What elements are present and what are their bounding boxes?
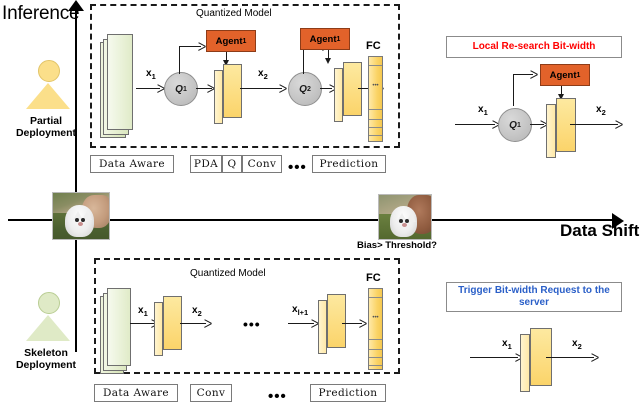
person-body (26, 83, 70, 109)
local-research-bitwidth-callout: Local Re-search Bit-width (446, 36, 622, 58)
right-agent-sub: 1 (577, 72, 581, 79)
x1-sub: 1 (144, 309, 148, 318)
skeleton-deployment-caption-line2: Deployment (0, 359, 92, 371)
top-input-tensor-slab (100, 34, 140, 138)
line-q1-to-agent1 (179, 46, 180, 74)
data-shift-axis-label: Data Shift (560, 222, 639, 240)
arrow-conv1-to-q2 (240, 88, 282, 89)
rb-x1-sub: 1 (508, 342, 512, 351)
trigger-bitwidth-request-callout: Trigger Bit-width Request to the server (446, 282, 622, 312)
right-x1-sub: 1 (484, 108, 488, 117)
bottom-stage-chip-conv[interactable]: Conv (190, 384, 232, 402)
bottom-stage-chip-data-aware[interactable]: Data Aware (94, 384, 178, 402)
top-stage-chip-data-aware[interactable]: Data Aware (90, 155, 174, 173)
partial-deployment-caption-line2: Deployment (0, 127, 92, 139)
person-head (38, 292, 60, 314)
top-stage-chip-conv[interactable]: Conv (242, 155, 282, 173)
agent1-base: Agent (216, 36, 243, 47)
q2-sub: 2 (307, 86, 311, 93)
arrowhead-conv-to-ellipsis (204, 319, 212, 327)
bottom-fc-label: FC (366, 272, 381, 284)
bottom-activation-label-xl1: xl+1 (292, 304, 308, 317)
top-stage-chip-pda[interactable]: PDA (190, 155, 222, 173)
inference-axis-line-lower (75, 232, 77, 352)
bottom-chip-ellipsis: ••• (268, 389, 287, 404)
bottom-quantized-model-label: Quantized Model (190, 268, 266, 279)
line-right-q1-to-agent (513, 74, 514, 106)
top-stage-chip-prediction[interactable]: Prediction (312, 155, 386, 173)
agent2-sub: 1 (337, 36, 341, 43)
arrowhead-to-agent1 (198, 42, 206, 50)
partial-deployment-person-icon (26, 60, 70, 110)
arrowhead-conv-last-to-fc (359, 319, 367, 327)
right-input-label-x1: x1 (478, 104, 488, 117)
right-conv-layer (546, 96, 580, 158)
bottom-input-tensor-slab (100, 288, 140, 370)
line-q2-to-agent2 (303, 46, 304, 74)
agent-box-1[interactable]: Agent1 (206, 30, 256, 52)
fc-ellipsis-dots: ••• (372, 83, 378, 89)
inference-axis-label: Inference (2, 4, 79, 24)
right-agent-box[interactable]: Agent1 (540, 64, 590, 86)
agent1-sub: 1 (243, 38, 247, 45)
fc-ellipsis-dots: ••• (372, 315, 378, 321)
arrowhead-right-output (615, 120, 623, 128)
cat-nose (402, 223, 407, 227)
skeleton-deployment-caption-line1: Skeleton (0, 347, 92, 359)
cat-nose (78, 222, 83, 226)
arrowhead-right-bottom-output (591, 353, 599, 361)
photo-cat (390, 206, 417, 237)
arrow-right-output (570, 124, 618, 125)
right-agent-base: Agent (550, 70, 577, 81)
top-chip-ellipsis: ••• (288, 160, 307, 175)
partial-deployment-caption-line1: Partial (0, 115, 92, 127)
top-conv-layer-1 (214, 62, 246, 124)
photo-cat (65, 205, 94, 237)
x2-sub: 2 (198, 309, 202, 318)
inference-axis-line (75, 8, 77, 206)
arrowhead-agent2-to-conv2 (325, 58, 331, 64)
right-x2-sub: 2 (602, 108, 606, 117)
right-q1-base: Q (509, 120, 517, 131)
bottom-stage-chip-prediction[interactable]: Prediction (310, 384, 386, 402)
bias-threshold-caption: Bias> Threshold? (357, 240, 437, 251)
top-quantized-model-label: Quantized Model (196, 8, 272, 19)
arrow-right-input (455, 124, 495, 125)
bottom-activation-label-x1: x1 (138, 305, 148, 318)
skeleton-deployment-person-icon (26, 292, 70, 342)
quantizer-q1: Q1 (164, 72, 198, 106)
agent-box-2[interactable]: Agent1 (300, 28, 350, 50)
person-head (38, 60, 60, 82)
top-stage-chip-q[interactable]: Q (222, 155, 242, 173)
arrowhead-right-to-agent (530, 70, 538, 78)
partial-deployment-caption: Partial Deployment (0, 115, 92, 140)
top-activation-label-x1: x1 (146, 68, 156, 81)
q2-base: Q (299, 84, 307, 95)
right-bottom-conv-layer (520, 326, 556, 392)
bottom-inner-ellipsis: ••• (243, 317, 261, 331)
top-fc-layer: ••• (368, 56, 383, 142)
top-activation-label-x2: x2 (258, 68, 268, 81)
top-fc-label: FC (366, 40, 381, 52)
xl1-sub: l+1 (298, 308, 309, 317)
right-bottom-input-label-x1: x1 (502, 338, 512, 351)
right-output-label-x2: x2 (596, 104, 606, 117)
top-conv-layer-2 (334, 60, 366, 122)
right-q1-sub: 1 (517, 122, 521, 129)
right-quantizer-q1: Q1 (498, 108, 532, 142)
person-body (26, 315, 70, 341)
right-bottom-output-label-x2: x2 (572, 338, 582, 351)
rb-x2-sub: 2 (578, 342, 582, 351)
q1-base: Q (175, 84, 183, 95)
arrow-right-bottom-output (546, 357, 594, 358)
shifted-image-thumbnail-center (378, 194, 432, 240)
skeleton-deployment-caption: Skeleton Deployment (0, 347, 92, 372)
bottom-fc-layer: ••• (368, 288, 383, 370)
arrow-conv-to-ellipsis (180, 323, 206, 324)
quantizer-q2: Q2 (288, 72, 322, 106)
agent2-base: Agent (310, 34, 337, 45)
q1-sub: 1 (183, 86, 187, 93)
bottom-conv-layer-1 (154, 294, 186, 356)
x1-sub: 1 (152, 72, 156, 81)
bottom-activation-label-x2: x2 (192, 305, 202, 318)
x2-sub: 2 (264, 72, 268, 81)
arrowhead-conv1-to-q2 (279, 84, 287, 92)
arrow-right-bottom-input (470, 357, 518, 358)
input-image-thumbnail-left (52, 192, 110, 240)
